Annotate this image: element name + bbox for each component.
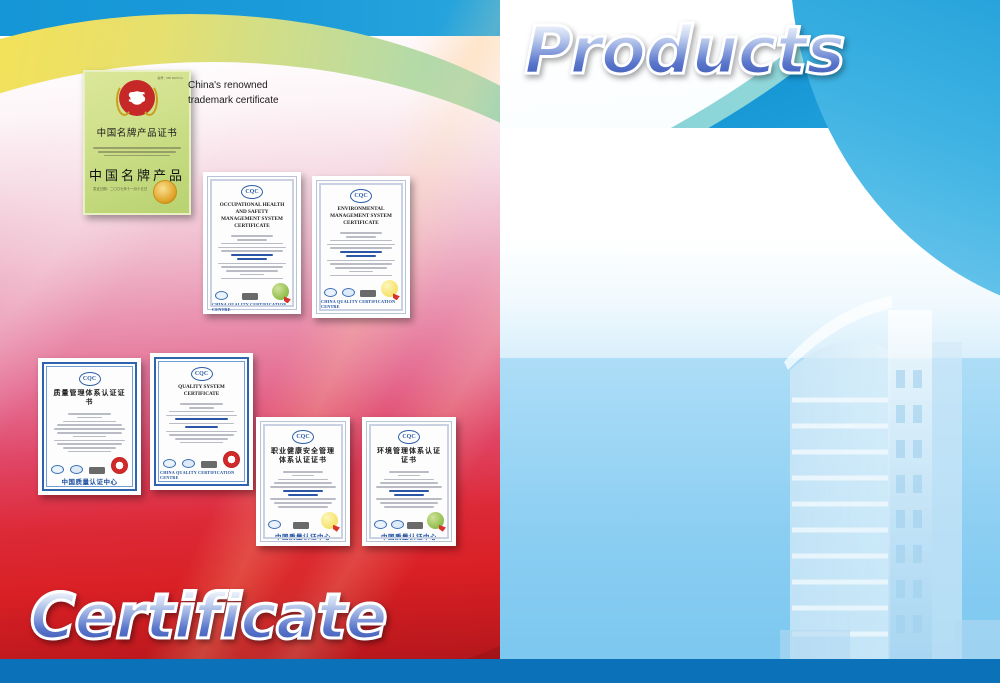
yellow-seal-icon — [321, 512, 338, 529]
accreditation-logo-icon-2 — [182, 459, 195, 468]
certificate-footer — [215, 283, 289, 300]
certificate-body-lines — [166, 401, 237, 449]
signature-icon — [360, 290, 376, 297]
products-panel: Mining Inserts & Buttons 硬质合金球齿 Cemented… — [500, 0, 1000, 683]
certificate-title-cn: 中国名牌产品证书 — [97, 125, 178, 139]
cqc-logo-icon: CQC — [398, 430, 420, 444]
certificate-footer — [163, 451, 239, 468]
green-seal-icon — [427, 512, 444, 529]
certificate-footer — [268, 512, 338, 529]
certificate-occupational-health-safety[interactable]: CQC OCCUPATIONAL HEALTH AND SAFETY MANAG… — [203, 172, 301, 314]
certificate-title-en: OCCUPATIONAL HEALTH AND SAFETY MANAGEMEN… — [212, 202, 292, 230]
accreditation-logo-icon — [215, 291, 228, 300]
certificate-environmental-management[interactable]: CQC ENVIRONMENTAL MANAGEMENT SYSTEM CERT… — [312, 176, 410, 318]
certificate-title-cn: 环境管理体系认证证书 — [371, 447, 447, 466]
page-title-products: Products — [524, 12, 844, 89]
certificate-occupational-health-cn[interactable]: CQC 职业健康安全管理体系认证证书 中国质量认证中心 — [256, 417, 350, 546]
trademark-label-line1: China's renowned — [188, 79, 279, 94]
certificate-footer — [51, 457, 127, 474]
accreditation-logo-icon — [51, 465, 64, 474]
certificate-body-lines — [218, 233, 287, 281]
certificate-body-lines — [376, 469, 441, 510]
signature-icon — [201, 461, 217, 468]
certificate-footer — [374, 512, 444, 529]
certificate-issuer-en: CHINA QUALITY CERTIFICATION CENTRE — [160, 470, 243, 480]
certificate-issuer-en: CHINA QUALITY CERTIFICATION CENTRE — [321, 299, 401, 309]
accreditation-logo-icon — [324, 288, 337, 297]
accreditation-logo-icon-2 — [342, 288, 355, 297]
certificate-body-lines — [93, 145, 180, 159]
certificate-issuer-cn: 中国质量认证中心 — [62, 476, 118, 486]
cqc-logo-icon: CQC — [191, 367, 213, 381]
national-emblem-icon: SS — [119, 80, 155, 116]
certificate-issuer-cn: 中国质量认证中心 — [381, 531, 437, 541]
yellow-seal-icon — [381, 280, 398, 297]
certificate-body-lines — [54, 411, 125, 455]
accreditation-logo-icon — [163, 459, 176, 468]
trademark-label-line2: trademark certificate — [188, 94, 279, 109]
trademark-certificate-label: China's renowned trademark certificate — [188, 79, 279, 108]
accreditation-logo-icon-2 — [391, 520, 404, 529]
cqc-logo-icon: CQC — [350, 189, 372, 203]
gold-seal-icon — [153, 180, 177, 204]
certificate-title-cn: 质量管理体系认证证书 — [48, 389, 131, 408]
certificate-quality-management-cn[interactable]: CQC 质量管理体系认证证书 中国质量认证中心 — [38, 358, 141, 495]
accreditation-logo-icon — [374, 520, 387, 529]
accreditation-logo-icon-2 — [70, 465, 83, 474]
certificate-china-famous-brand[interactable]: 编号：MP 2007xxx SS 中国名牌产品证书 中国名牌产品 发证日期：二〇… — [83, 70, 191, 215]
certificate-body-lines — [270, 469, 335, 510]
certificate-environmental-cn[interactable]: CQC 环境管理体系认证证书 中国质量认证中心 — [362, 417, 456, 546]
accreditation-logo-icon — [268, 520, 281, 529]
green-seal-icon — [272, 283, 289, 300]
certificate-issue-date: 发证日期：二〇〇七年十一月十五日 — [93, 186, 147, 191]
signature-icon — [242, 293, 258, 300]
red-seal-icon — [223, 451, 240, 468]
certificate-title-en: QUALITY SYSTEM CERTIFICATE — [160, 384, 243, 398]
certificate-issuer-en: CHINA QUALITY CERTIFICATION CENTRE — [212, 302, 292, 312]
signature-icon — [89, 467, 105, 474]
signature-icon — [293, 522, 309, 529]
cqc-logo-icon: CQC — [79, 372, 101, 386]
certificate-title-cn: 职业健康安全管理体系认证证书 — [265, 447, 341, 466]
cqc-logo-icon: CQC — [292, 430, 314, 444]
certificate-title-en: ENVIRONMENTAL MANAGEMENT SYSTEM CERTIFIC… — [321, 206, 401, 227]
signature-icon — [407, 522, 423, 529]
certificate-body-lines — [327, 230, 396, 278]
page-title-certificate: Certificate — [30, 580, 387, 653]
certificate-quality-system-en[interactable]: CQC QUALITY SYSTEM CERTIFICATE CHINA QUA… — [150, 353, 253, 490]
red-seal-icon — [111, 457, 128, 474]
brochure-page: 编号：MP 2007xxx SS 中国名牌产品证书 中国名牌产品 发证日期：二〇… — [0, 0, 1000, 683]
emblem-text: SS — [128, 92, 146, 105]
bottom-blue-bar — [0, 659, 1000, 683]
certificate-issuer-cn: 中国质量认证中心 — [275, 531, 331, 541]
certificate-footer — [324, 280, 398, 297]
cqc-logo-icon: CQC — [241, 185, 263, 199]
